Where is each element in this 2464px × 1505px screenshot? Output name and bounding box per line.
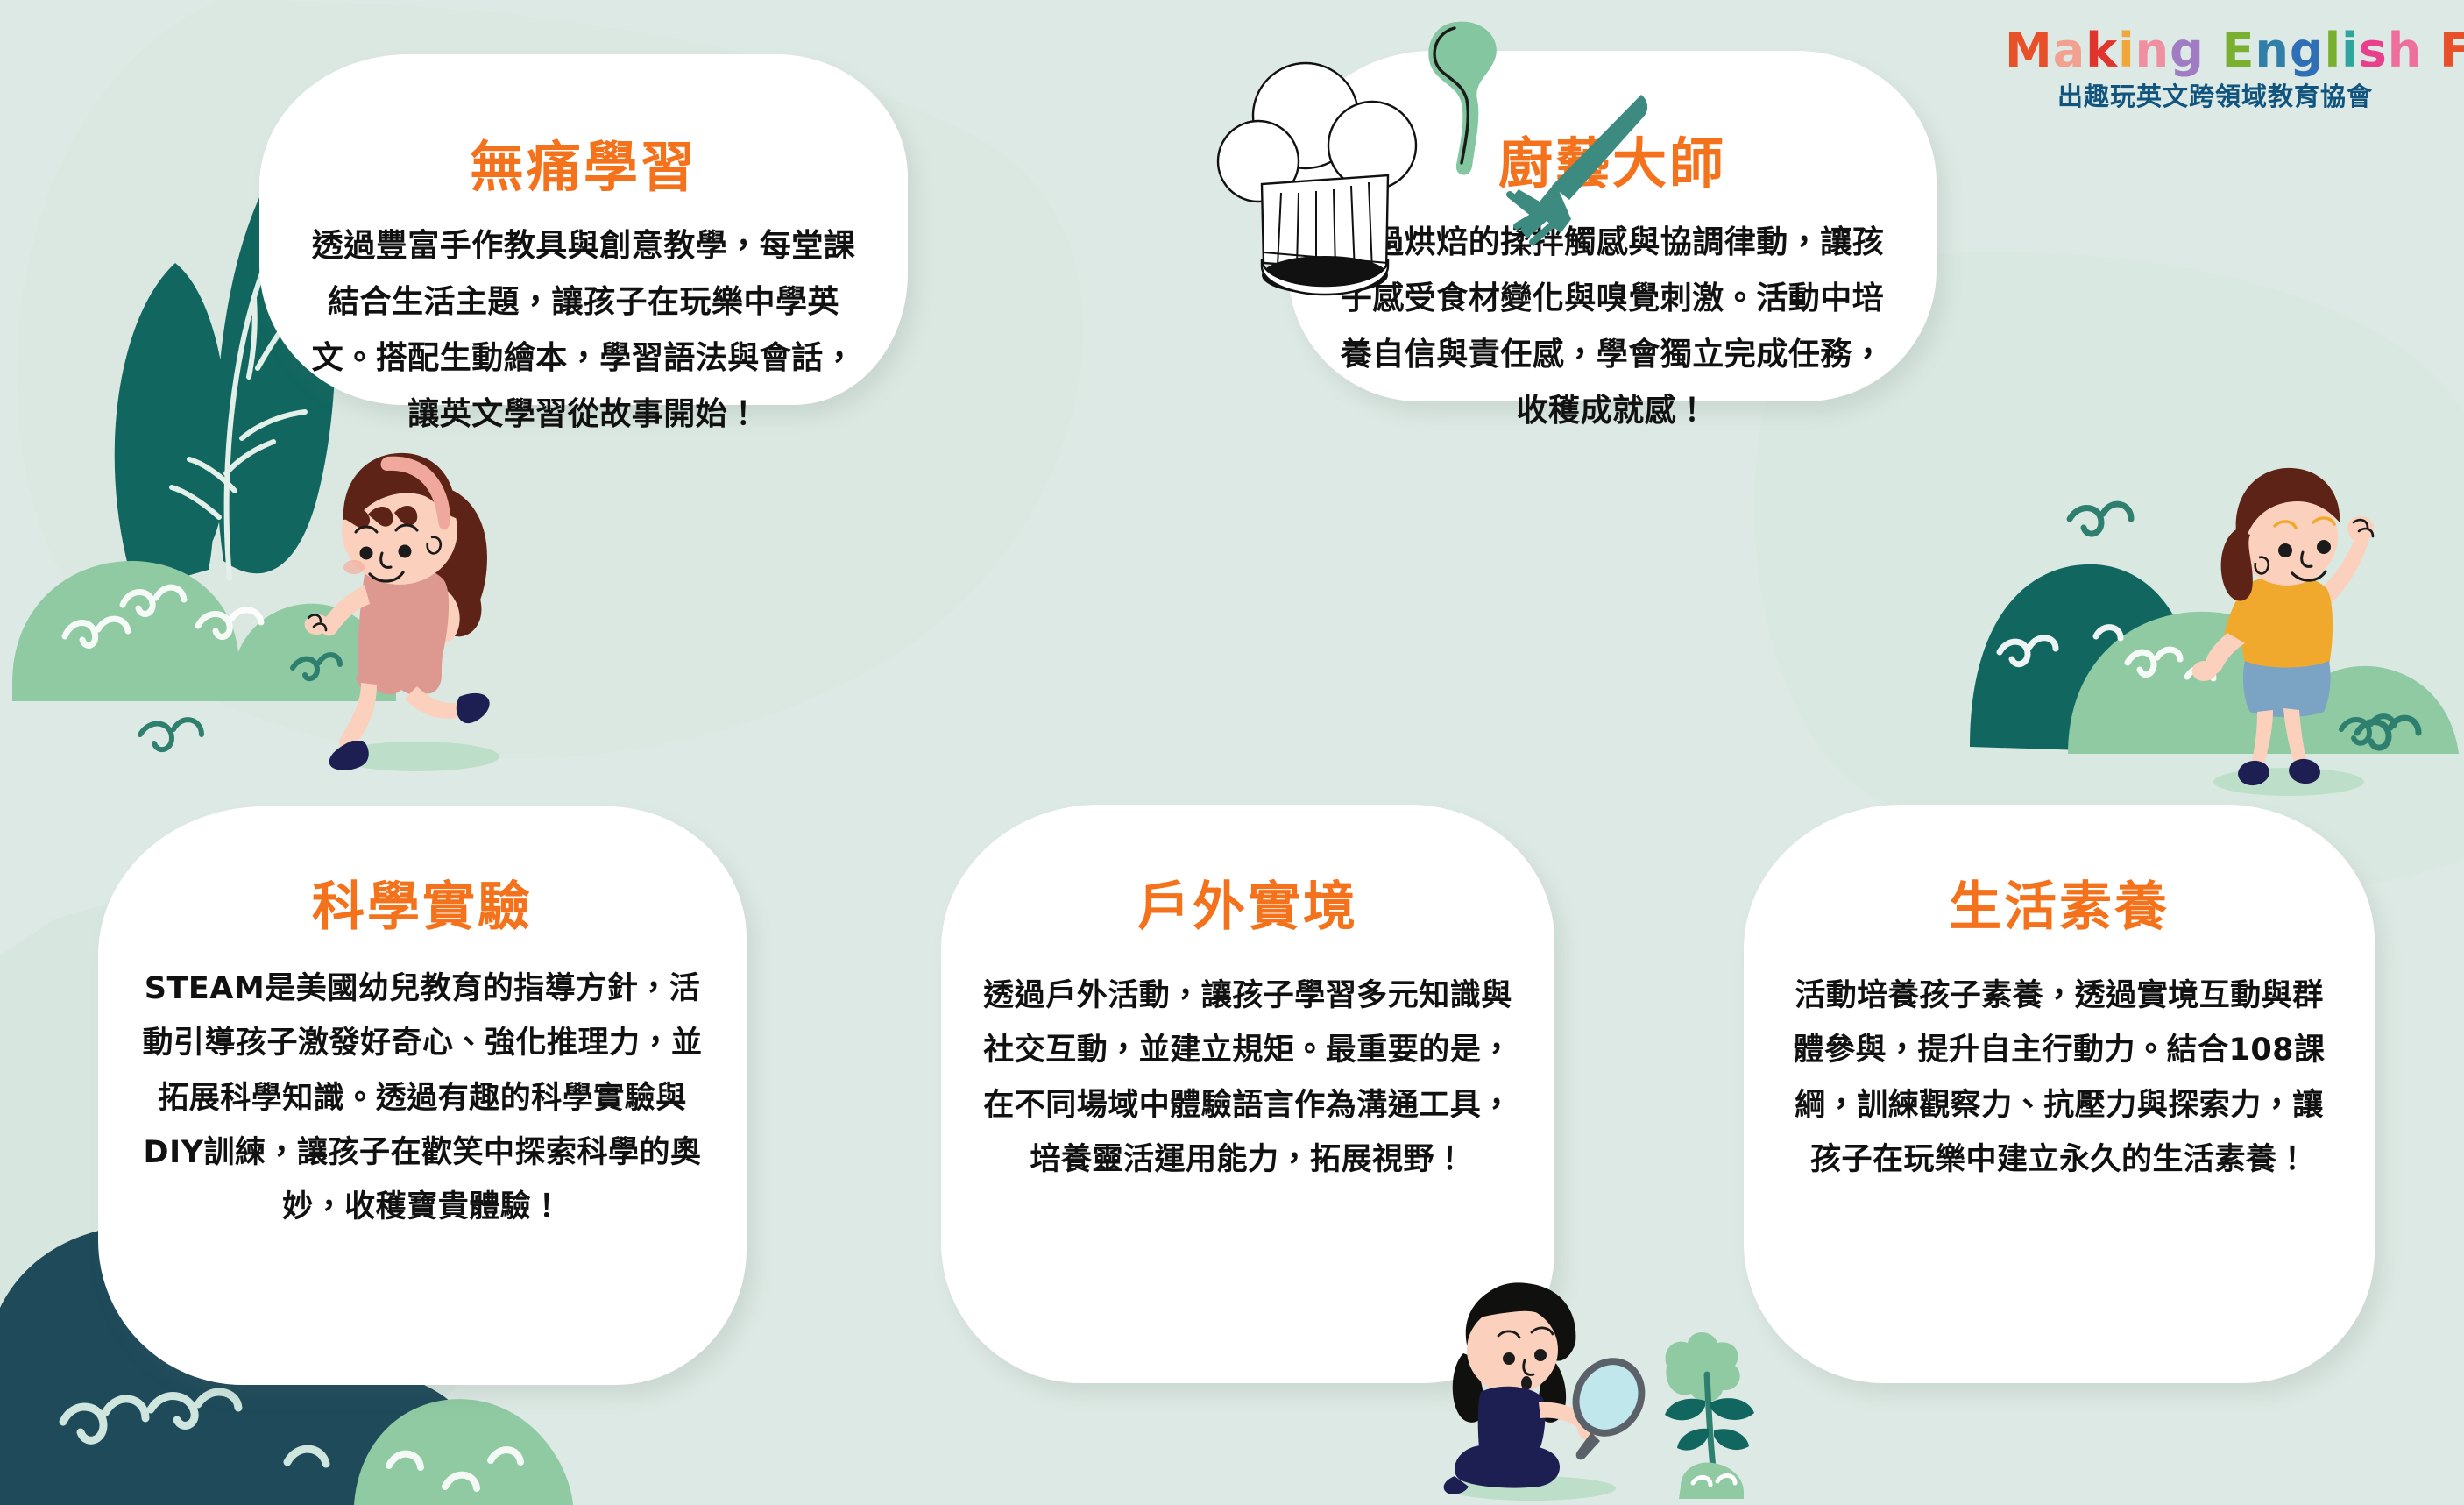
boy-waving-illustration	[2175, 456, 2438, 806]
logo-letter: k	[2085, 26, 2118, 75]
card-body: 活動培養孩子素養，透過實境互動與群體參與，提升自主行動力。結合108課綱，訓練觀…	[1783, 969, 2335, 1187]
feature-card-science-experiment[interactable]: 科學實驗 STEAM是美國幼兒教育的指導方針，活動引導孩子激發好奇心、強化推理力…	[98, 806, 747, 1385]
logo-letter: n	[2135, 26, 2170, 75]
feature-card-life-literacy[interactable]: 生活素養 活動培養孩子素養，透過實境互動與群體參與，提升自主行動力。結合108課…	[1744, 805, 2375, 1383]
logo-letter: E	[2222, 26, 2255, 75]
feature-card-outdoor-immersion[interactable]: 戶外實境 透過戶外活動，讓孩子學習多元知識與社交互動，並建立規矩。最重要的是，在…	[941, 805, 1554, 1383]
logo-letter: h	[2388, 26, 2422, 75]
card-title: 戶外實境	[1137, 880, 1358, 935]
brand-logo: Making English Fun 出趣玩英文跨領域教育協會	[2005, 26, 2425, 113]
logo-letter: i	[2341, 26, 2359, 75]
sprout-doodles-left	[140, 655, 340, 749]
logo-subtitle: 出趣玩英文跨領域教育協會	[2005, 76, 2425, 113]
logo-letter: M	[2005, 26, 2053, 75]
logo-letter: l	[2325, 26, 2342, 75]
bush-right	[1970, 504, 2459, 754]
logo-letter: a	[2053, 26, 2085, 75]
sprout-doodles-misc	[2341, 716, 2394, 743]
card-body: 透過豐富手作教具與創意教學，每堂課結合生活主題，讓孩子在玩樂中學英文。搭配生動繪…	[303, 218, 864, 443]
card-body: 透過烘焙的揉拌觸感與協調律動，讓孩子感受食材變化與嗅覺刺激。活動中培養自信與責任…	[1328, 215, 1897, 439]
logo-letter: i	[2118, 26, 2135, 75]
card-body: STEAM是美國幼兒教育的指導方針，活動引導孩子激發好奇心、強化推理力，並拓展科…	[133, 962, 712, 1234]
bush-left	[12, 561, 396, 701]
poster-canvas: Making English Fun 出趣玩英文跨領域教育協會 無痛學習 透過豐…	[0, 0, 2464, 1505]
logo-letter: F	[2439, 26, 2464, 75]
card-title: 無痛學習	[470, 138, 697, 195]
feature-card-painless-learning[interactable]: 無痛學習 透過豐富手作教具與創意教學，每堂課結合生活主題，讓孩子在玩樂中學英文。…	[259, 54, 908, 405]
logo-letter: g	[2290, 26, 2325, 75]
logo-wordmark: Making English Fun	[2005, 26, 2425, 75]
logo-letter	[2205, 26, 2222, 75]
card-title: 生活素養	[1949, 880, 2170, 935]
logo-letter: g	[2170, 26, 2205, 75]
logo-letter	[2422, 26, 2439, 75]
flower-illustration	[1665, 1332, 1754, 1499]
card-title: 科學實驗	[312, 880, 533, 935]
card-body: 透過戶外活動，讓孩子學習多元知識與社交互動，並建立規矩。最重要的是，在不同場域中…	[976, 969, 1519, 1187]
logo-letter: s	[2359, 26, 2388, 75]
logo-letter: n	[2255, 26, 2289, 75]
girl-running-illustration	[268, 434, 549, 784]
feature-card-culinary-master[interactable]: 廚藝大師 透過烘焙的揉拌觸感與協調律動，讓孩子感受食材變化與嗅覺刺激。活動中培養…	[1288, 51, 1937, 401]
card-title: 廚藝大師	[1498, 135, 1726, 192]
